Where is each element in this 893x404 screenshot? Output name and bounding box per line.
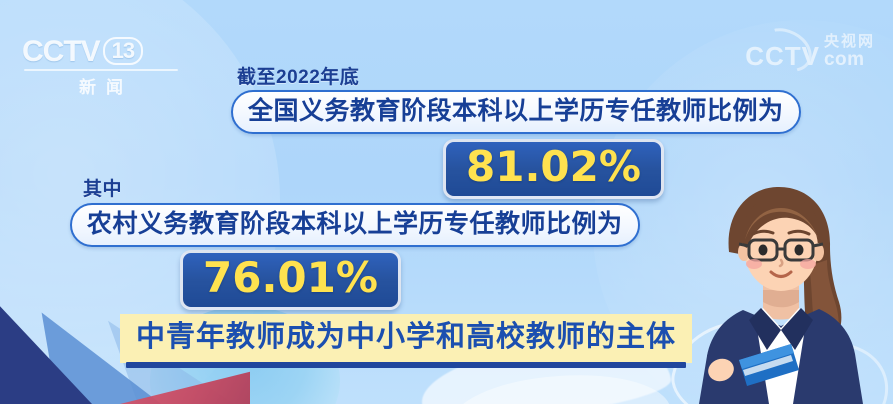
cctv-com-watermark: CCTV 央视网 com — [745, 34, 875, 69]
stat-value-1: 81.02% — [466, 144, 641, 190]
channel-logo-subtitle: 新闻 — [22, 73, 182, 98]
eyebrow-label-1: 截至2022年底 — [237, 62, 359, 89]
channel-logo-rule — [24, 69, 178, 71]
teacher-illustration-svg — [681, 174, 881, 404]
eyebrow-label-2: 其中 — [83, 174, 122, 201]
stat-value-box-1: 81.02% — [443, 139, 664, 199]
channel-logo-text: CCTV — [22, 35, 100, 68]
watermark-com-text: com — [824, 50, 865, 69]
summary-banner-underline — [126, 362, 686, 368]
stat-value-box-2: 76.01% — [180, 250, 401, 310]
statement-pill-1: 全国义务教育阶段本科以上学历专任教师比例为 — [231, 90, 801, 134]
cctv13-channel-logo: CCTV13 新闻 — [22, 36, 182, 98]
stat-value-2: 76.01% — [203, 255, 378, 301]
watermark-chinese-text: 央视网 — [824, 34, 875, 50]
news-graphic-screen: CCTV13 新闻 CCTV 央视网 com 截至2022年底 全国义务教育阶段… — [0, 0, 893, 404]
channel-logo-number: 13 — [103, 37, 143, 65]
summary-banner-text: 中青年教师成为中小学和高校教师的主体 — [136, 321, 676, 353]
statement-pill-1-text: 全国义务教育阶段本科以上学历专任教师比例为 — [248, 96, 784, 126]
summary-banner: 中青年教师成为中小学和高校教师的主体 — [120, 314, 692, 363]
statement-pill-2: 农村义务教育阶段本科以上学历专任教师比例为 — [70, 203, 640, 247]
statement-pill-2-text: 农村义务教育阶段本科以上学历专任教师比例为 — [87, 209, 623, 239]
teacher-illustration — [681, 174, 881, 404]
